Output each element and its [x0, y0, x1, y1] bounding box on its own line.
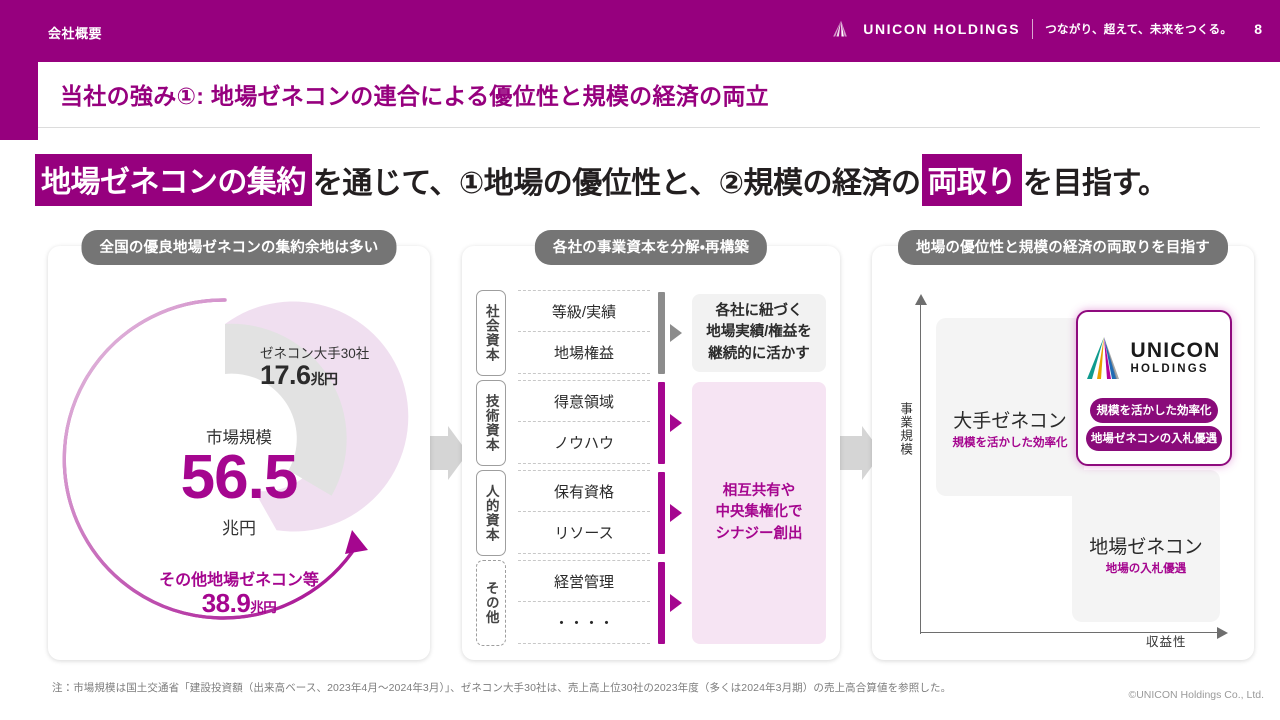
- capital-category-label: 人的資本: [476, 470, 506, 556]
- capital-item: ・・・・: [518, 602, 650, 644]
- panel-market-size: 全国の優良地場ゼネコンの集約余地は多い ゼネコン大手30社 17.6兆円 市場規…: [48, 246, 430, 660]
- header-right-cluster: UNICON HOLDINGS つながり、超えて、未来をつくる。 8: [831, 19, 1262, 39]
- capital-category-label: 技術資本: [476, 380, 506, 466]
- capital-category-label: 社会資本: [476, 290, 506, 376]
- group-accent-bar: [658, 562, 665, 644]
- positioning-matrix: 事業規模 収益性 大手ゼネコン 規模を活かした効率化 地場ゼネコン 地場の入札優…: [896, 294, 1232, 642]
- group-arrow-icon: [670, 324, 682, 342]
- group-arrow-icon: [670, 504, 682, 522]
- unicon-spire-logo-icon: [1087, 335, 1121, 381]
- slide-canvas: 会社概要 UNICON HOLDINGS つながり、超えて、未来をつくる。 8 …: [0, 0, 1280, 720]
- matrix-card-major-contractors[interactable]: 大手ゼネコン 規模を活かした効率化: [936, 318, 1084, 496]
- matrix-card-title: 大手ゼネコン: [936, 406, 1084, 433]
- capital-item: 得意領域: [518, 380, 650, 422]
- group-arrow-icon: [670, 414, 682, 432]
- header-kicker: 会社概要: [48, 23, 102, 42]
- capital-item-list: 保有資格 リソース: [518, 470, 650, 554]
- donut-center-value: 56.5: [48, 442, 430, 513]
- capital-group: 技術資本 得意領域 ノウハウ: [476, 380, 506, 466]
- donut-label-other-value: 38.9兆円: [48, 588, 430, 619]
- y-axis-label: 事業規模: [898, 402, 911, 456]
- capital-item: 保有資格: [518, 470, 650, 512]
- capital-item: 等級/実績: [518, 290, 650, 332]
- matrix-card-subtitle: 規模を活かした効率化: [936, 434, 1084, 450]
- panel-capital-decomposition: 各社の事業資本を分解・再構築 社会資本 等級/実績 地場権益 各社に紐づく地場実…: [462, 246, 840, 660]
- panel-right-pill: 地場の優位性と規模の経済の両取りを目指す: [898, 230, 1228, 265]
- capital-outcome-text: 各社に紐づく地場実績/権益を継続的に活かす: [706, 301, 812, 364]
- unicon-logo-lockup: UNICON HOLDINGS: [1078, 330, 1230, 386]
- donut-label-other-name: その他地場ゼネコン等: [48, 566, 430, 590]
- lead-statement: 地場ゼネコンの集約 を通じて、①地場の優位性と、②規模の経済の 両取り を目指す…: [34, 152, 1254, 208]
- matrix-card-unicon[interactable]: UNICON HOLDINGS 規模を活かした効率化 地場ゼネコンの入札優遇: [1076, 310, 1232, 466]
- capital-item-list: 等級/実績 地場権益: [518, 290, 650, 374]
- page-title: 当社の強み①: 地場ゼネコンの連合による優位性と規模の経済の両立: [60, 77, 769, 111]
- unicon-wordmark-line1: UNICON: [1130, 340, 1220, 361]
- footnote: 注：市場規模は国土交通省「建設投資額（出来高ベース、2023年4月〜2024年3…: [52, 680, 1012, 695]
- matrix-card-local-contractors[interactable]: 地場ゼネコン 地場の入札優遇: [1072, 470, 1220, 622]
- header-divider: [1032, 19, 1033, 39]
- group-accent-bar: [658, 472, 665, 554]
- lead-plain-2: を目指す。: [1023, 158, 1168, 202]
- other-unit: 兆円: [250, 600, 276, 615]
- capital-outcome-text: 相互共有や中央集権化でシナジー創出: [716, 481, 803, 544]
- donut-center-unit: 兆円: [48, 514, 430, 539]
- panel-positioning-matrix: 地場の優位性と規模の経済の両取りを目指す 事業規模 収益性 大手ゼネコン 規模を…: [872, 246, 1254, 660]
- other-number: 38.9: [202, 588, 251, 618]
- x-axis-arrow-icon: [1214, 626, 1228, 640]
- capital-group: その他 経営管理 ・・・・: [476, 560, 506, 646]
- header-band: 会社概要 UNICON HOLDINGS つながり、超えて、未来をつくる。 8: [0, 0, 1280, 62]
- major30-number: 17.6: [260, 360, 311, 390]
- donut-label-major30-name: ゼネコン大手30社: [260, 342, 420, 362]
- x-axis-line: [920, 632, 1220, 633]
- capital-group-list: 社会資本 等級/実績 地場権益 各社に紐づく地場実績/権益を継続的に活かす 技術…: [476, 290, 826, 646]
- x-axis-label: 収益性: [1146, 636, 1187, 649]
- unicon-wordmark-line2: HOLDINGS: [1130, 364, 1220, 376]
- capital-outcome-box: 各社に紐づく地場実績/権益を継続的に活かす: [692, 294, 826, 372]
- capital-outcome-box: 相互共有や中央集権化でシナジー創出: [692, 382, 826, 644]
- capital-item-list: 得意領域 ノウハウ: [518, 380, 650, 464]
- title-divider: [38, 127, 1260, 128]
- copyright: ©UNICON Holdings Co., Ltd.: [1128, 689, 1264, 701]
- capital-item: 地場権益: [518, 332, 650, 374]
- capital-group: 社会資本 等級/実績 地場権益: [476, 290, 506, 376]
- panel-mid-pill: 各社の事業資本を分解・再構築: [535, 230, 767, 265]
- unicon-wordmark: UNICON HOLDINGS: [1130, 340, 1220, 376]
- unicon-badge: 規模を活かした効率化: [1090, 398, 1218, 423]
- capital-item: ノウハウ: [518, 422, 650, 464]
- lead-plain-1: を通じて、①地場の優位性と、②規模の経済の: [313, 158, 921, 202]
- matrix-card-subtitle: 地場の入札優遇: [1072, 560, 1220, 576]
- unicon-badge: 地場ゼネコンの入札優遇: [1086, 426, 1222, 451]
- matrix-card-title: 地場ゼネコン: [1072, 532, 1220, 559]
- group-accent-bar: [658, 292, 665, 374]
- group-arrow-icon: [670, 594, 682, 612]
- y-axis-arrow-icon: [914, 294, 928, 308]
- lead-highlight-2: 両取り: [922, 154, 1023, 206]
- capital-group: 人的資本 保有資格 リソース: [476, 470, 506, 556]
- unicon-spire-logo-icon: [831, 19, 851, 39]
- capital-item: リソース: [518, 512, 650, 554]
- header-logo-text: UNICON HOLDINGS: [863, 21, 1020, 37]
- capital-category-label: その他: [476, 560, 506, 646]
- donut-label-major30-value: 17.6兆円: [260, 360, 420, 391]
- panel-left-pill: 全国の優良地場ゼネコンの集約余地は多い: [81, 230, 396, 265]
- y-axis-line: [920, 304, 921, 634]
- capital-item-list: 経営管理 ・・・・: [518, 560, 650, 644]
- lead-highlight-1: 地場ゼネコンの集約: [35, 154, 312, 206]
- header-tagline: つながり、超えて、未来をつくる。: [1045, 21, 1232, 37]
- major30-unit: 兆円: [311, 371, 338, 387]
- group-accent-bar: [658, 382, 665, 464]
- page-number: 8: [1254, 21, 1262, 37]
- capital-item: 経営管理: [518, 560, 650, 602]
